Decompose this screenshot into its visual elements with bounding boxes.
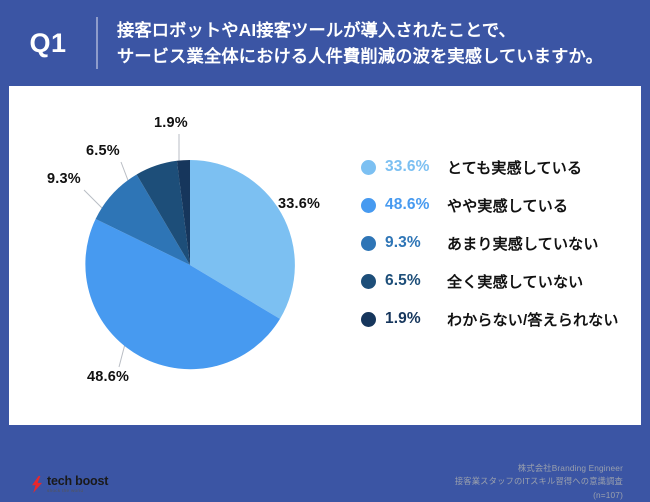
logo-name: tech boost xyxy=(47,475,108,488)
legend-swatch-icon-0 xyxy=(361,160,376,175)
legend-swatch-icon-4 xyxy=(361,312,376,327)
legend-item-3[interactable]: 6.5% 全く実感していない xyxy=(361,262,633,300)
legend-label-3: 全く実感していない xyxy=(447,271,583,292)
legend-label-0: とても実感している xyxy=(447,157,582,178)
legend-percent-1: 48.6% xyxy=(385,196,447,214)
legend-label-1: やや実感している xyxy=(447,195,568,216)
logo-tagline: shock the world xyxy=(47,489,108,494)
legend-item-1[interactable]: 48.6% やや実感している xyxy=(361,186,633,224)
source-survey: 接客業スタッフのITスキル習得への意識調査 xyxy=(455,475,623,488)
question-line-2: サービス業全体における人件費削減の波を実感していますか。 xyxy=(117,43,603,69)
legend-swatch-icon-3 xyxy=(361,274,376,289)
slide-root: Q1 接客ロボットやAI接客ツールが導入されたことで、 サービス業全体における人… xyxy=(0,0,650,434)
question-text: 接客ロボットやAI接客ツールが導入されたことで、 サービス業全体における人件費削… xyxy=(98,17,603,69)
legend-swatch-icon-1 xyxy=(361,198,376,213)
pie-slices xyxy=(85,160,295,369)
legend-label-4: わからない/答えられない xyxy=(447,309,619,330)
chart-legend: 33.6% とても実感している 48.6% やや実感している 9.3% あまり実… xyxy=(361,148,633,338)
legend-label-2: あまり実感していない xyxy=(447,233,599,254)
legend-swatch-icon-2 xyxy=(361,236,376,251)
source-sample-size: (n=107) xyxy=(455,489,623,502)
pie-label-336: 33.6% xyxy=(278,196,320,212)
pie-chart: 33.6% 48.6% 9.3% 6.5% 1.9% xyxy=(9,86,359,425)
question-number: Q1 xyxy=(0,28,96,59)
brand-logo: tech boost shock the world xyxy=(31,475,108,494)
question-line-1: 接客ロボットやAI接客ツールが導入されたことで、 xyxy=(117,17,603,43)
pie-label-93: 9.3% xyxy=(47,171,81,187)
content-card: 33.6% 48.6% 9.3% 6.5% 1.9% 33.6% とても実感して… xyxy=(9,86,641,425)
pie-label-65: 6.5% xyxy=(86,143,120,159)
legend-item-4[interactable]: 1.9% わからない/答えられない xyxy=(361,300,633,338)
legend-percent-4: 1.9% xyxy=(385,310,447,328)
lightning-bolt-icon xyxy=(31,476,43,493)
legend-percent-2: 9.3% xyxy=(385,234,447,252)
legend-percent-3: 6.5% xyxy=(385,272,447,290)
pie-chart-svg xyxy=(9,86,359,425)
logo-text-block: tech boost shock the world xyxy=(47,475,108,494)
pie-label-19: 1.9% xyxy=(154,115,188,131)
legend-percent-0: 33.6% xyxy=(385,158,447,176)
legend-item-2[interactable]: 9.3% あまり実感していない xyxy=(361,224,633,262)
pie-label-486: 48.6% xyxy=(87,369,129,385)
source-company: 株式会社Branding Engineer xyxy=(455,462,623,475)
source-attribution: 株式会社Branding Engineer 接客業スタッフのITスキル習得への意… xyxy=(455,462,623,502)
legend-item-0[interactable]: 33.6% とても実感している xyxy=(361,148,633,186)
question-header: Q1 接客ロボットやAI接客ツールが導入されたことで、 サービス業全体における人… xyxy=(0,0,650,86)
